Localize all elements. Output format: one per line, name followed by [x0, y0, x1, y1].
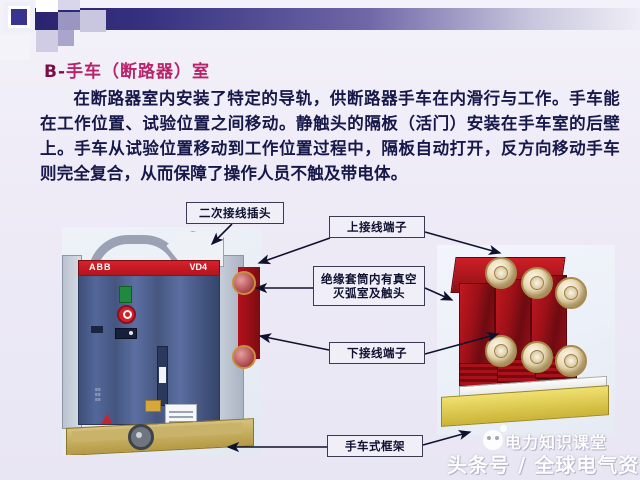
- vd4-lower-contact: [232, 345, 256, 369]
- vd4-open-button: [117, 305, 136, 324]
- vd4-spring-indicator: [91, 326, 103, 333]
- slide-canvas: B-手车（断路器）室 在断路器室内安装了特定的导轨，供断路器手车在内滑行与工作。…: [0, 0, 640, 480]
- page-title-prefix: B-: [44, 62, 66, 82]
- deco-square-e: [36, 30, 58, 52]
- deco-square-i: [58, 12, 80, 30]
- deco-square-f: [58, 30, 74, 46]
- callout-lower-terminal[interactable]: 下接线端子: [329, 342, 425, 364]
- vd4-brand-label: ABB: [89, 262, 112, 272]
- paragraph-text: 在断路器室内安装了特定的导轨，供断路器手车在内滑行与工作。手车能在工作位置、试验…: [40, 89, 620, 183]
- photo-red-breaker: [437, 245, 615, 435]
- vd4-upper-contact: [232, 271, 256, 295]
- vd4-charging-slot: [157, 346, 168, 406]
- callout-secondary-plug[interactable]: 二次接线插头: [186, 202, 284, 224]
- page-title-text: 手车（断路器）室: [66, 62, 210, 82]
- line-upper-terminal-left: [259, 238, 330, 263]
- vd4-truck-wheel: [128, 424, 154, 450]
- watermark-logo-icon: [483, 430, 503, 450]
- vd4-warning-triangle-icon: [101, 414, 113, 424]
- lower-bushing-2: [521, 341, 553, 373]
- lower-bushing-3: [555, 345, 587, 377]
- watermark-line-2: 头条号 / 全球电气资源: [447, 449, 640, 478]
- callout-truck-frame[interactable]: 手车式框架: [327, 435, 423, 457]
- line-lower-terminal-left: [260, 336, 329, 350]
- callout-arc-chamber[interactable]: 绝缘套筒内有真空灭弧室及触头: [313, 266, 425, 306]
- body-paragraph: 在断路器室内安装了特定的导轨，供断路器手车在内滑行与工作。手车能在工作位置、试验…: [40, 86, 620, 186]
- vd4-gold-badge: [145, 400, 161, 412]
- upper-bushing-2: [521, 267, 553, 299]
- deco-square-g: [80, 10, 106, 32]
- deco-square-h: [0, 34, 30, 60]
- vd4-operation-counter: [115, 328, 137, 339]
- upper-bushing-1: [485, 257, 517, 289]
- page-title: B-手车（断路器）室: [44, 57, 210, 82]
- deco-square-d: [58, 0, 80, 10]
- lower-bushing-1: [485, 335, 517, 367]
- deco-square-c: [36, 0, 58, 12]
- upper-bushing-3: [555, 277, 587, 309]
- photo-vd4-breaker: ABB VD4 ≡≡≡≡≡≡: [62, 227, 262, 455]
- vd4-close-button: [119, 286, 132, 303]
- deco-square-badge: [8, 6, 30, 28]
- vd4-side-markings: ≡≡≡≡≡≡: [95, 388, 101, 403]
- vd4-model-label: VD4: [189, 262, 207, 272]
- vd4-front-panel: ≡≡≡≡≡≡: [78, 275, 220, 425]
- header-gradient-bar: [35, 8, 640, 30]
- callout-upper-terminal[interactable]: 上接线端子: [329, 216, 425, 238]
